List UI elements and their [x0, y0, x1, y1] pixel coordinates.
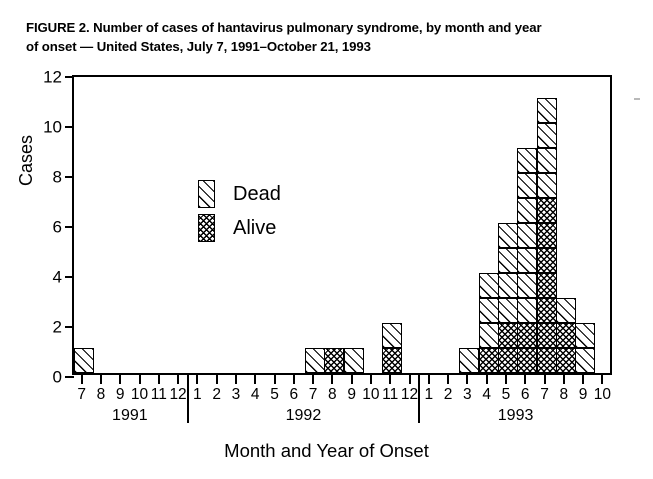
y-tick-label: 2 [53, 319, 62, 336]
legend-label-dead: Dead [233, 184, 281, 204]
x-tick [274, 375, 276, 384]
y-tick-label: 4 [53, 269, 62, 286]
x-tick-label-month: 10 [362, 387, 379, 403]
legend-swatch-dead-icon [198, 180, 215, 208]
bar-segment-alive [537, 298, 557, 323]
x-axis: 7891011121234567891011121234567891019911… [72, 375, 612, 435]
bar-segment-alive [537, 323, 557, 348]
x-tick-label-month: 12 [169, 387, 186, 403]
x-tick [601, 375, 603, 384]
y-tick [65, 226, 74, 228]
y-tick-label: 8 [53, 169, 62, 186]
figure-title-line-1: FIGURE 2. Number of cases of hantavirus … [26, 18, 626, 37]
y-tick-label: 0 [53, 369, 62, 386]
x-tick-label-month: 6 [289, 387, 298, 403]
bar-segment-dead [517, 248, 537, 273]
x-tick [254, 375, 256, 384]
bar-stack [556, 298, 576, 373]
x-tick-label-month: 5 [502, 387, 511, 403]
bar-segment-alive [537, 348, 557, 373]
x-tick-label-month: 8 [328, 387, 337, 403]
x-tick [119, 375, 121, 384]
legend: Dead Alive [198, 177, 281, 245]
bar-segment-dead [498, 223, 518, 248]
y-tick-label: 6 [53, 219, 62, 236]
bar-stack [382, 323, 402, 373]
x-tick [331, 375, 333, 384]
x-tick [158, 375, 160, 384]
y-tick [65, 126, 74, 128]
bar-segment-dead [537, 148, 557, 173]
x-tick-label-month: 9 [347, 387, 356, 403]
x-axis-year-label: 1991 [112, 408, 148, 424]
x-tick-label-month: 9 [116, 387, 125, 403]
x-tick-label-month: 1 [424, 387, 433, 403]
bar-segment-dead [479, 323, 499, 348]
legend-entry-alive: Alive [198, 211, 281, 245]
x-tick [505, 375, 507, 384]
bar-segment-alive [479, 348, 499, 373]
bar-segment-dead [537, 173, 557, 198]
bar-stack [324, 348, 344, 373]
x-axis-title: Month and Year of Onset [0, 440, 653, 462]
bar-segment-alive [537, 248, 557, 273]
bar-segment-alive [382, 348, 402, 373]
bar-segment-alive [517, 323, 537, 348]
bar-segment-dead [537, 98, 557, 123]
bar-stack [575, 323, 595, 373]
year-separator [418, 375, 420, 423]
x-tick-label-month: 4 [251, 387, 260, 403]
bar-stack [517, 148, 537, 373]
x-tick [524, 375, 526, 384]
x-tick-label-month: 4 [482, 387, 491, 403]
x-tick [216, 375, 218, 384]
x-tick-label-month: 2 [212, 387, 221, 403]
x-tick [351, 375, 353, 384]
x-tick [544, 375, 546, 384]
bar-segment-alive [498, 323, 518, 348]
bar-segment-dead [517, 223, 537, 248]
bar-segment-dead [517, 298, 537, 323]
bar-segment-dead [517, 173, 537, 198]
bar-segment-alive [324, 348, 344, 373]
bar-segment-dead [498, 298, 518, 323]
x-tick-label-month: 11 [151, 387, 167, 403]
figure-root: FIGURE 2. Number of cases of hantavirus … [0, 0, 653, 479]
bar-segment-dead [382, 323, 402, 348]
y-tick [65, 76, 74, 78]
bar-segment-alive [498, 348, 518, 373]
year-separator [187, 375, 189, 423]
bar-segment-dead [517, 148, 537, 173]
x-tick-label-month: 10 [594, 387, 611, 403]
x-tick-label-month: 8 [559, 387, 568, 403]
bar-stack [344, 348, 364, 373]
bar-segment-dead [479, 298, 499, 323]
legend-label-alive: Alive [233, 218, 276, 238]
bar-segment-dead [556, 298, 576, 323]
bar-segment-dead [517, 198, 537, 223]
y-tick [65, 276, 74, 278]
x-tick-label-month: 1 [193, 387, 202, 403]
y-tick [65, 326, 74, 328]
x-tick [177, 375, 179, 384]
bar-stack [459, 348, 479, 373]
x-tick [235, 375, 237, 384]
y-tick [65, 176, 74, 178]
x-tick [409, 375, 411, 384]
x-axis-year-label: 1993 [498, 408, 534, 424]
x-tick [428, 375, 430, 384]
legend-entry-dead: Dead [198, 177, 281, 211]
legend-swatch-alive-icon [198, 214, 215, 242]
bar-segment-dead [498, 248, 518, 273]
x-tick-label-month: 8 [97, 387, 106, 403]
x-tick [582, 375, 584, 384]
bar-stack [537, 98, 557, 373]
x-tick-label-month: 6 [521, 387, 530, 403]
x-tick [196, 375, 198, 384]
bar-segment-dead [575, 323, 595, 348]
x-tick [389, 375, 391, 384]
plot-area: 024681012 Dead Alive [72, 75, 612, 375]
x-tick-label-month: 9 [579, 387, 588, 403]
x-tick [100, 375, 102, 384]
x-tick-label-month: 11 [382, 387, 398, 403]
x-tick-label-month: 3 [463, 387, 472, 403]
bar-stack [74, 348, 94, 373]
bar-segment-dead [305, 348, 325, 373]
scan-artifact [634, 98, 640, 100]
x-tick [447, 375, 449, 384]
figure-title-line-2: of onset — United States, July 7, 1991–O… [26, 37, 626, 56]
x-tick [563, 375, 565, 384]
x-tick-label-month: 10 [131, 387, 148, 403]
x-tick [293, 375, 295, 384]
bar-segment-dead [74, 348, 94, 373]
x-tick-label-month: 12 [401, 387, 418, 403]
bar-segment-dead [479, 273, 499, 298]
bar-segment-alive [556, 323, 576, 348]
bar-segment-alive [556, 348, 576, 373]
x-tick [139, 375, 141, 384]
y-tick-label: 12 [43, 69, 62, 86]
x-axis-year-label: 1992 [286, 408, 322, 424]
x-tick [370, 375, 372, 384]
x-tick [81, 375, 83, 384]
bar-segment-alive [517, 348, 537, 373]
figure-title: FIGURE 2. Number of cases of hantavirus … [26, 18, 626, 56]
x-tick-label-month: 2 [444, 387, 453, 403]
bar-segment-dead [517, 273, 537, 298]
x-tick [466, 375, 468, 384]
x-tick-label-month: 3 [232, 387, 241, 403]
x-tick [312, 375, 314, 384]
bar-stack [479, 273, 499, 373]
x-tick-label-month: 5 [270, 387, 279, 403]
bar-segment-dead [459, 348, 479, 373]
bar-stack [305, 348, 325, 373]
x-tick-label-month: 7 [309, 387, 318, 403]
bar-segment-alive [537, 198, 557, 223]
y-tick-label: 10 [43, 119, 62, 136]
bar-segment-dead [575, 348, 595, 373]
y-axis-title: Cases [16, 135, 37, 186]
bar-segment-alive [537, 273, 557, 298]
bar-segment-dead [537, 123, 557, 148]
x-tick [486, 375, 488, 384]
x-tick-label-month: 7 [540, 387, 549, 403]
bar-segment-dead [344, 348, 364, 373]
bar-segment-alive [537, 223, 557, 248]
bar-stack [498, 223, 518, 373]
bars-layer [74, 77, 610, 373]
bar-segment-dead [498, 273, 518, 298]
x-tick-label-month: 7 [77, 387, 86, 403]
